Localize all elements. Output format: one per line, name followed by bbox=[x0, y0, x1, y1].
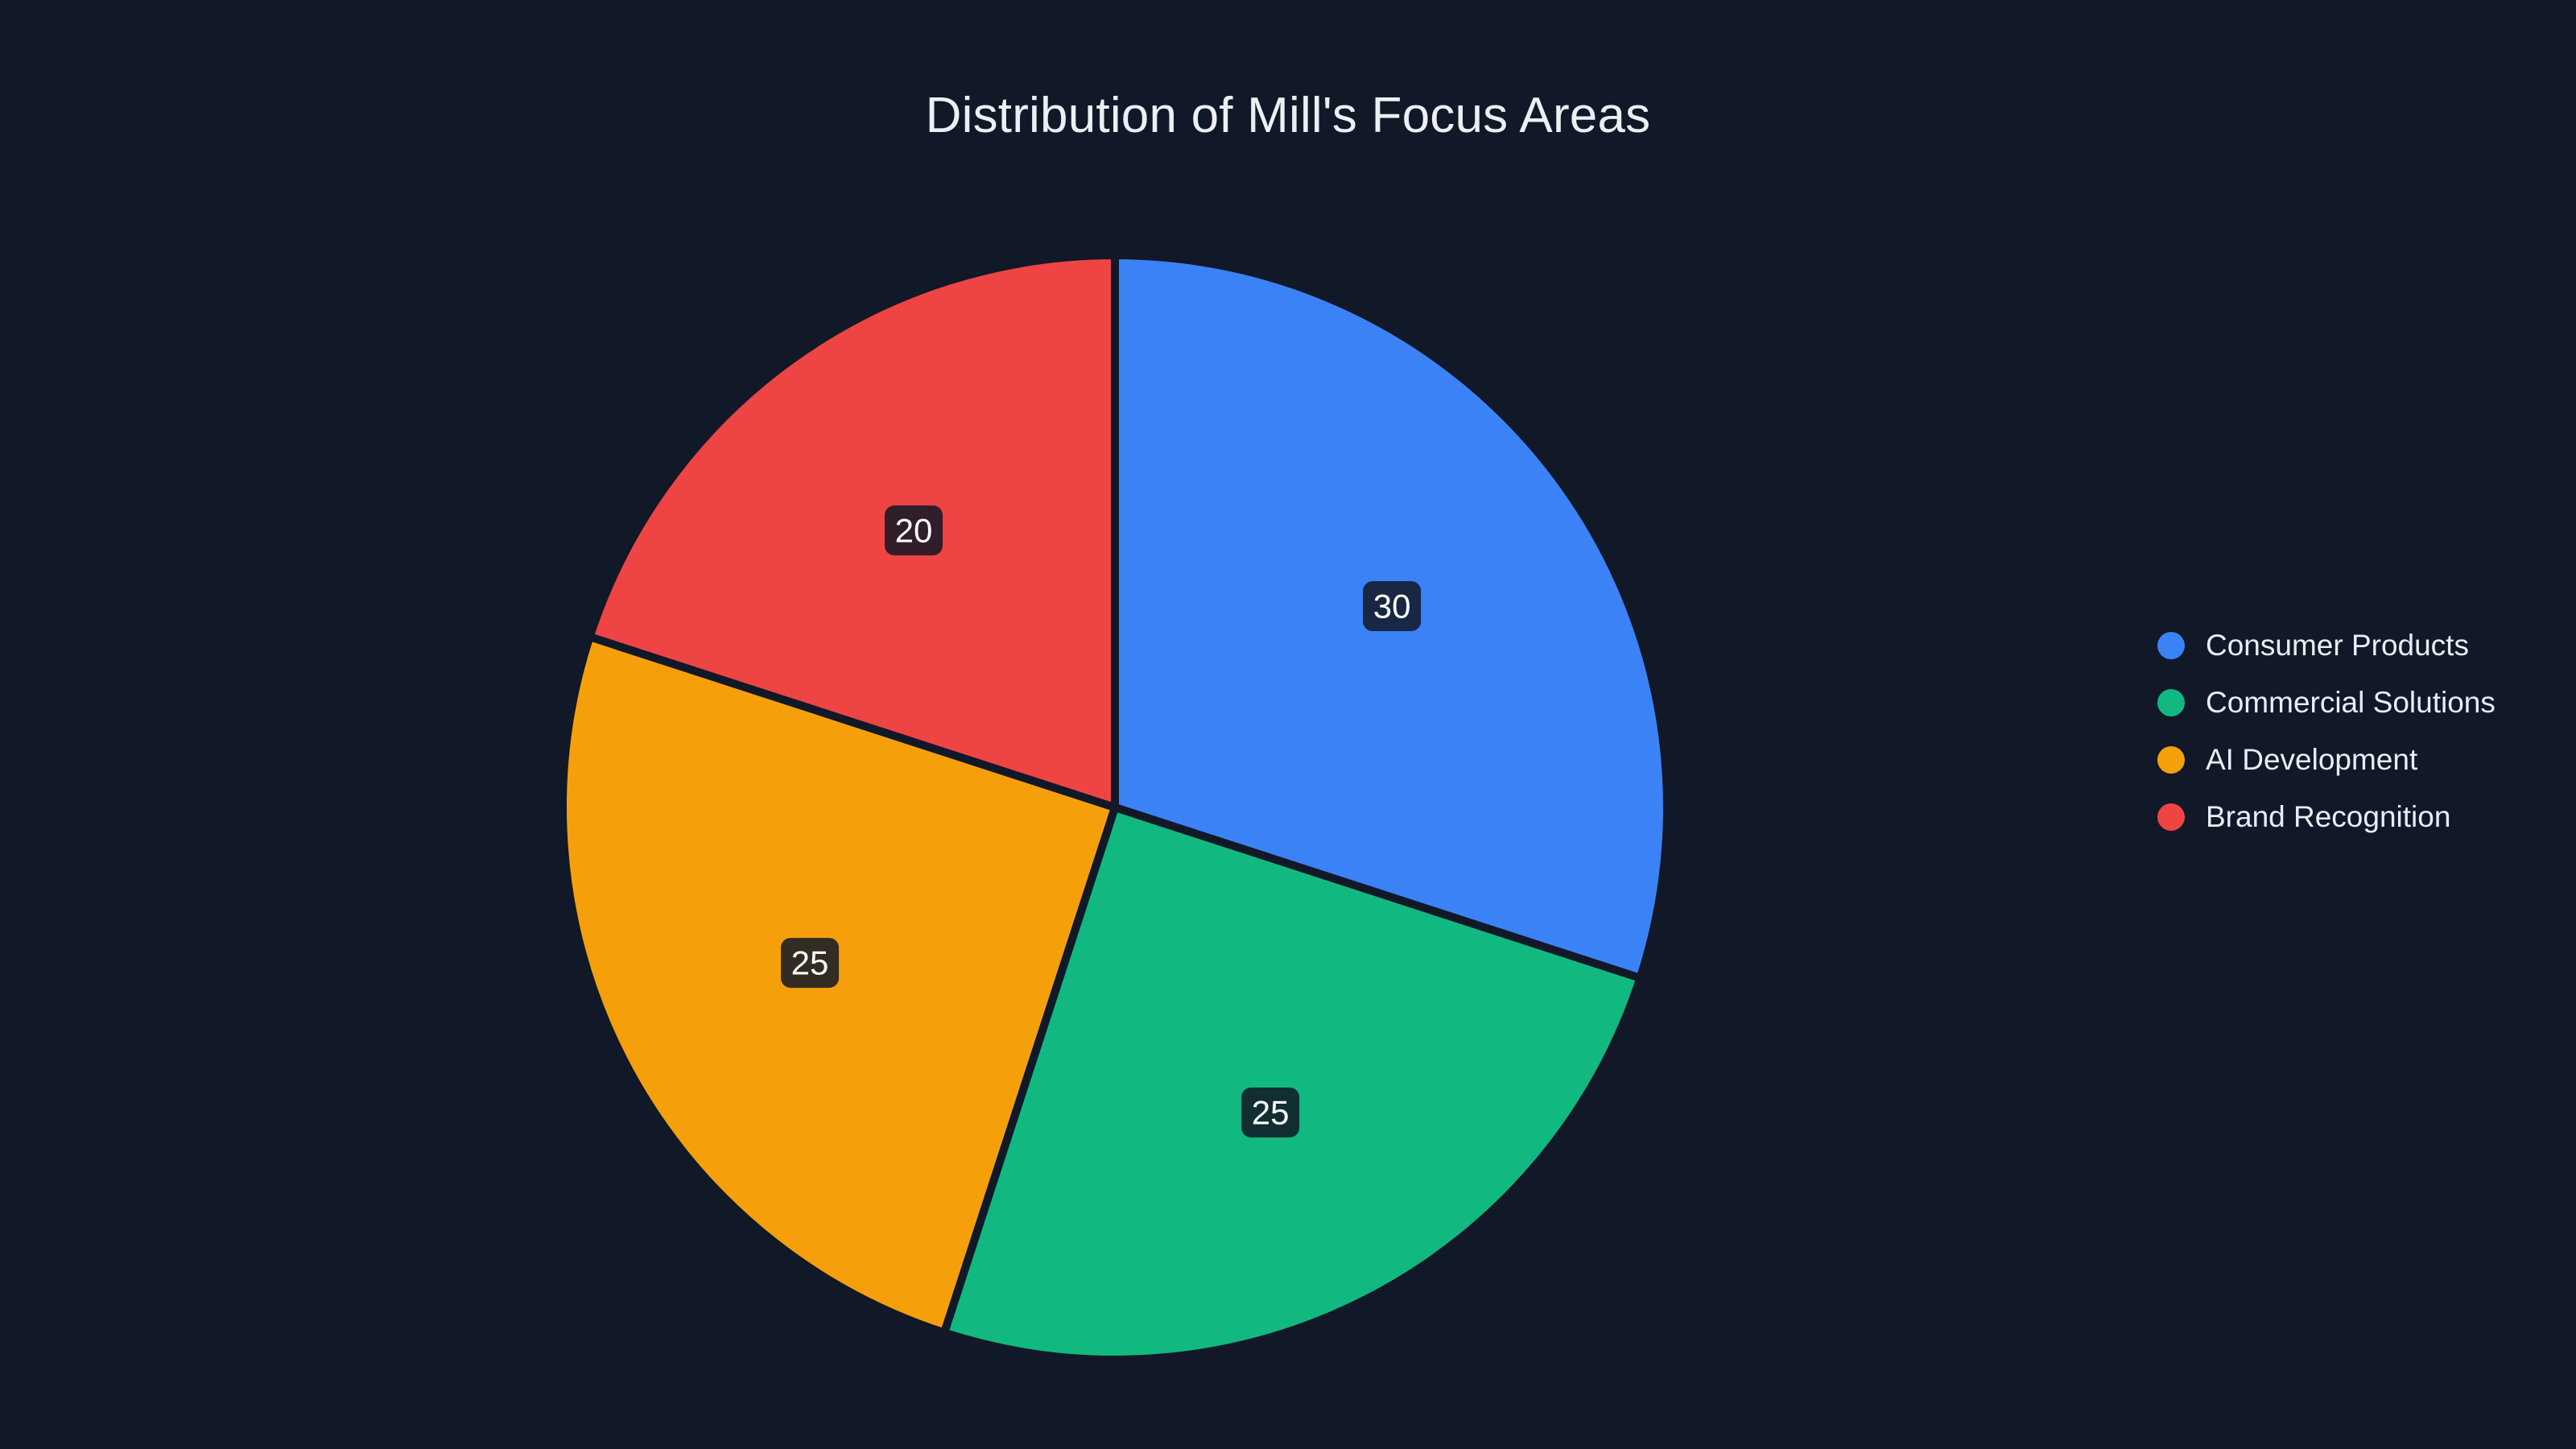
legend-item-label: Consumer Products bbox=[2206, 630, 2469, 660]
pie-slices-group bbox=[563, 255, 1667, 1360]
legend-item[interactable]: Consumer Products bbox=[2157, 617, 2536, 674]
legend-item-label: Commercial Solutions bbox=[2206, 687, 2495, 717]
legend-item-label: Brand Recognition bbox=[2206, 802, 2450, 832]
pie-chart-figure: Distribution of Mill's Focus Areas 30252… bbox=[0, 0, 2576, 1449]
pie-slice-value-label: 25 bbox=[1252, 1093, 1290, 1131]
pie-slice-value-label: 20 bbox=[895, 511, 933, 549]
circle-marker-icon bbox=[2157, 803, 2185, 831]
circle-marker-icon bbox=[2157, 746, 2185, 774]
legend-item[interactable]: Brand Recognition bbox=[2157, 788, 2536, 845]
legend-item[interactable]: AI Development bbox=[2157, 731, 2536, 788]
pie-slice-value-label: 30 bbox=[1373, 588, 1411, 625]
pie-slice-value-label: 25 bbox=[791, 944, 829, 982]
circle-marker-icon bbox=[2157, 689, 2185, 716]
chart-legend: Consumer ProductsCommercial SolutionsAI … bbox=[2157, 617, 2536, 845]
legend-item[interactable]: Commercial Solutions bbox=[2157, 674, 2536, 731]
legend-item-label: AI Development bbox=[2206, 745, 2417, 774]
circle-marker-icon bbox=[2157, 632, 2185, 659]
